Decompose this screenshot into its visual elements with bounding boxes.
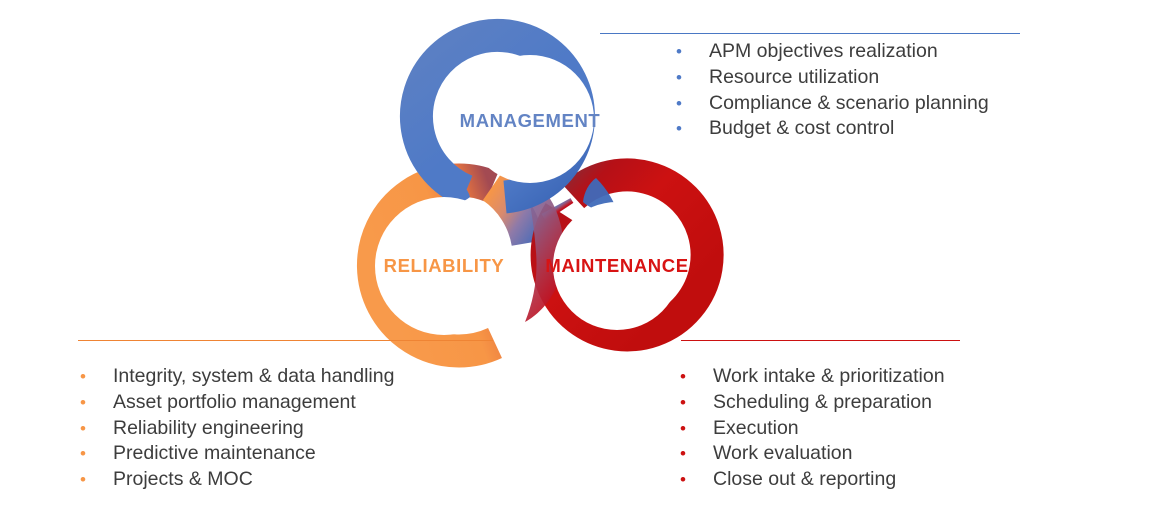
list-item-label: Work intake & prioritization: [713, 364, 945, 390]
ring-management-crossover: [583, 178, 618, 214]
ring-management-tail: [442, 173, 470, 203]
reliability-bullet-list: • Integrity, system & data handling • As…: [80, 364, 394, 493]
list-item: • Execution: [680, 416, 945, 442]
bullet-icon: •: [680, 390, 713, 416]
ring-label-reliability: RELIABILITY: [384, 255, 505, 277]
ring-label-management: MANAGEMENT: [460, 110, 601, 132]
bullet-icon: •: [80, 416, 113, 442]
bullet-icon: •: [680, 416, 713, 442]
bullet-icon: •: [80, 467, 113, 493]
bullet-icon: •: [676, 65, 709, 91]
list-item-label: Integrity, system & data handling: [113, 364, 394, 390]
list-item-label: Work evaluation: [713, 441, 852, 467]
bullet-icon: •: [80, 390, 113, 416]
list-item: • Work intake & prioritization: [680, 364, 945, 390]
bullet-icon: •: [676, 116, 709, 142]
bullet-icon: •: [676, 91, 709, 117]
ring-overlap-blend: [523, 175, 564, 322]
maintenance-bullet-list: • Work intake & prioritization • Schedul…: [680, 364, 945, 493]
list-item-label: Projects & MOC: [113, 467, 253, 493]
list-item-label: Predictive maintenance: [113, 441, 316, 467]
list-item-label: Reliability engineering: [113, 416, 304, 442]
list-item-label: Compliance & scenario planning: [709, 91, 989, 117]
list-item-label: Close out & reporting: [713, 467, 896, 493]
list-item: • Predictive maintenance: [80, 441, 394, 467]
management-bullet-list: • APM objectives realization • Resource …: [676, 39, 989, 142]
maintenance-rule: [681, 340, 960, 341]
list-item: • Scheduling & preparation: [680, 390, 945, 416]
management-rule: [600, 33, 1020, 34]
ring-label-maintenance: MAINTENANCE: [545, 255, 688, 277]
list-item: • Integrity, system & data handling: [80, 364, 394, 390]
list-item: • Reliability engineering: [80, 416, 394, 442]
bullet-icon: •: [80, 364, 113, 390]
bullet-icon: •: [680, 467, 713, 493]
diagram-canvas: MANAGEMENT RELIABILITY MAINTENANCE • APM…: [0, 0, 1176, 516]
list-item-label: Budget & cost control: [709, 116, 894, 142]
list-item: • APM objectives realization: [676, 39, 989, 65]
list-item: • Budget & cost control: [676, 116, 989, 142]
list-item-label: APM objectives realization: [709, 39, 938, 65]
list-item: • Work evaluation: [680, 441, 945, 467]
reliability-rule: [78, 340, 493, 341]
list-item: • Asset portfolio management: [80, 390, 394, 416]
list-item: • Resource utilization: [676, 65, 989, 91]
list-item: • Compliance & scenario planning: [676, 91, 989, 117]
bullet-icon: •: [80, 441, 113, 467]
bullet-icon: •: [676, 39, 709, 65]
list-item-label: Resource utilization: [709, 65, 879, 91]
list-item: • Projects & MOC: [80, 467, 394, 493]
list-item-label: Scheduling & preparation: [713, 390, 932, 416]
bullet-icon: •: [680, 364, 713, 390]
list-item: • Close out & reporting: [680, 467, 945, 493]
list-item-label: Execution: [713, 416, 799, 442]
list-item-label: Asset portfolio management: [113, 390, 356, 416]
bullet-icon: •: [680, 441, 713, 467]
